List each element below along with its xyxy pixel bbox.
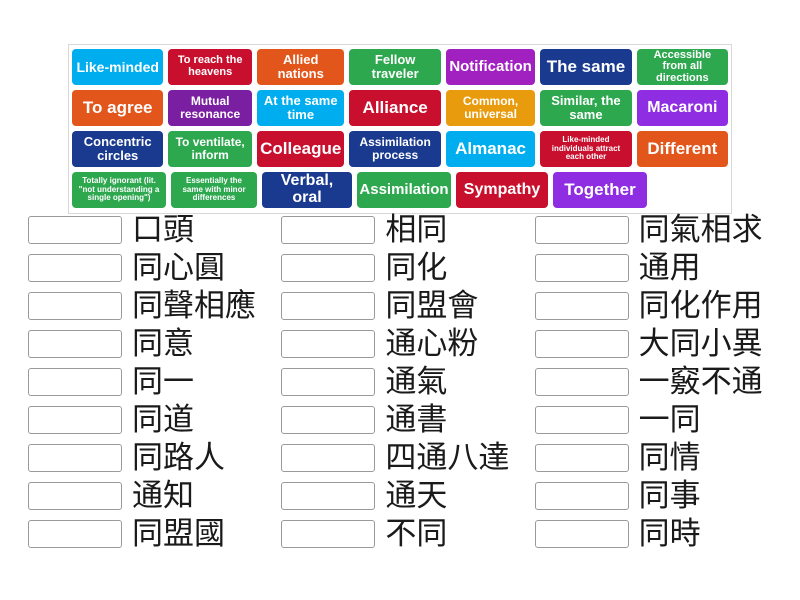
drop-slot[interactable] [281,216,375,244]
answer-row: 同一 [28,364,273,400]
answer-label: 同氣相求 [639,213,763,247]
word-tile[interactable]: Fellow traveler [349,49,440,85]
word-tile[interactable]: Assimilation process [349,131,440,167]
answer-row: 同氣相求 [535,212,780,248]
drop-slot[interactable] [535,482,629,510]
word-tile[interactable]: Totally ignorant (lit. "not understandin… [72,172,166,208]
drop-slot[interactable] [281,444,375,472]
word-tile[interactable]: Assimilation [357,172,451,208]
word-tile[interactable]: Sympathy [456,172,548,208]
drop-slot[interactable] [28,444,122,472]
word-tile[interactable]: Verbal, oral [262,172,352,208]
drop-slot[interactable] [281,330,375,358]
drop-slot[interactable] [535,254,629,282]
drop-slot[interactable] [281,368,375,396]
answer-label: 同盟國 [132,517,225,551]
drop-slot[interactable] [28,330,122,358]
answer-label: 同路人 [132,441,225,475]
answer-row: 同心圓 [28,250,273,286]
tile-row: Concentric circlesTo ventilate, informCo… [72,131,728,167]
word-tile[interactable]: Allied nations [257,49,344,85]
answer-label: 一同 [639,403,701,437]
word-tile[interactable]: Common, universal [446,90,535,126]
answer-label: 通心粉 [385,327,478,361]
drop-slot[interactable] [28,482,122,510]
answer-row: 同化作用 [535,288,780,324]
drop-slot[interactable] [535,330,629,358]
answer-row: 四通八達 [281,440,526,476]
word-tile[interactable]: Like-minded individuals attract each oth… [540,131,631,167]
answer-row: 通氣 [281,364,526,400]
drop-slot[interactable] [535,406,629,434]
word-tile[interactable]: Mutual resonance [168,90,252,126]
answer-label: 通書 [385,403,447,437]
word-tile[interactable]: To reach the heavens [168,49,252,85]
word-tile[interactable]: Like-minded [72,49,163,85]
answer-label: 口頭 [132,213,194,247]
answer-row: 通書 [281,402,526,438]
answer-label: 四通八達 [385,441,509,475]
answer-label: 大同小異 [639,327,763,361]
drop-slot[interactable] [281,520,375,548]
answer-row: 口頭 [28,212,273,248]
answer-row: 大同小異 [535,326,780,362]
answer-row: 一同 [535,402,780,438]
drop-slot[interactable] [535,216,629,244]
answer-row: 相同 [281,212,526,248]
word-tile[interactable]: Accessible from all directions [637,49,728,85]
word-tile[interactable]: Macaroni [637,90,728,126]
drop-slot[interactable] [28,216,122,244]
answer-row: 不同 [281,516,526,552]
answer-row: 同意 [28,326,273,362]
tile-bank: Like-mindedTo reach the heavensAllied na… [68,44,732,214]
drop-slot[interactable] [535,368,629,396]
answer-label: 同化 [385,251,447,285]
word-tile[interactable]: Concentric circles [72,131,163,167]
drop-slot[interactable] [28,292,122,320]
drop-slot[interactable] [28,406,122,434]
word-tile[interactable]: Alliance [349,90,440,126]
activity-page: Like-mindedTo reach the heavensAllied na… [0,0,800,600]
answer-label: 同一 [132,365,194,399]
answer-grid: 口頭相同同氣相求同心圓同化通用同聲相應同盟會同化作用同意通心粉大同小異同一通氣一… [28,212,780,552]
answer-label: 通知 [132,479,194,513]
drop-slot[interactable] [281,292,375,320]
answer-row: 同化 [281,250,526,286]
drop-slot[interactable] [535,292,629,320]
answer-row: 通心粉 [281,326,526,362]
answer-row: 同路人 [28,440,273,476]
answer-label: 同盟會 [385,289,478,323]
answer-row: 同盟會 [281,288,526,324]
word-tile[interactable]: Essentially the same with minor differen… [171,172,257,208]
answer-row: 同時 [535,516,780,552]
answer-label: 通天 [385,479,447,513]
answer-label: 同心圓 [132,251,225,285]
drop-slot[interactable] [281,482,375,510]
answer-label: 同聲相應 [132,289,256,323]
word-tile[interactable]: To ventilate, inform [168,131,252,167]
word-tile[interactable]: Notification [446,49,535,85]
word-tile[interactable]: At the same time [257,90,344,126]
drop-slot[interactable] [28,254,122,282]
word-tile[interactable]: Similar, the same [540,90,631,126]
word-tile[interactable]: Different [637,131,728,167]
answer-row: 同道 [28,402,273,438]
answer-label: 同時 [639,517,701,551]
answer-row: 一竅不通 [535,364,780,400]
drop-slot[interactable] [535,444,629,472]
answer-label: 同化作用 [639,289,763,323]
tile-row: To agreeMutual resonanceAt the same time… [72,90,728,126]
answer-label: 一竅不通 [639,365,763,399]
word-tile[interactable]: Together [553,172,647,208]
answer-label: 通氣 [385,365,447,399]
answer-label: 相同 [385,213,447,247]
answer-label: 同事 [639,479,701,513]
answer-row: 通知 [28,478,273,514]
answer-row: 通天 [281,478,526,514]
answer-row: 通用 [535,250,780,286]
drop-slot[interactable] [535,520,629,548]
word-tile[interactable]: Almanac [446,131,535,167]
answer-row: 同情 [535,440,780,476]
answer-row: 同事 [535,478,780,514]
tile-row: Like-mindedTo reach the heavensAllied na… [72,49,728,85]
answer-label: 同情 [639,441,701,475]
answer-label: 同道 [132,403,194,437]
word-tile[interactable]: Colleague [257,131,344,167]
drop-slot[interactable] [28,520,122,548]
answer-label: 不同 [385,517,447,551]
answer-row: 同聲相應 [28,288,273,324]
word-tile[interactable]: To agree [72,90,163,126]
answer-label: 同意 [132,327,194,361]
tile-row: Totally ignorant (lit. "not understandin… [72,172,728,208]
drop-slot[interactable] [281,254,375,282]
answer-label: 通用 [639,251,701,285]
word-tile[interactable]: The same [540,49,631,85]
drop-slot[interactable] [28,368,122,396]
answer-row: 同盟國 [28,516,273,552]
drop-slot[interactable] [281,406,375,434]
